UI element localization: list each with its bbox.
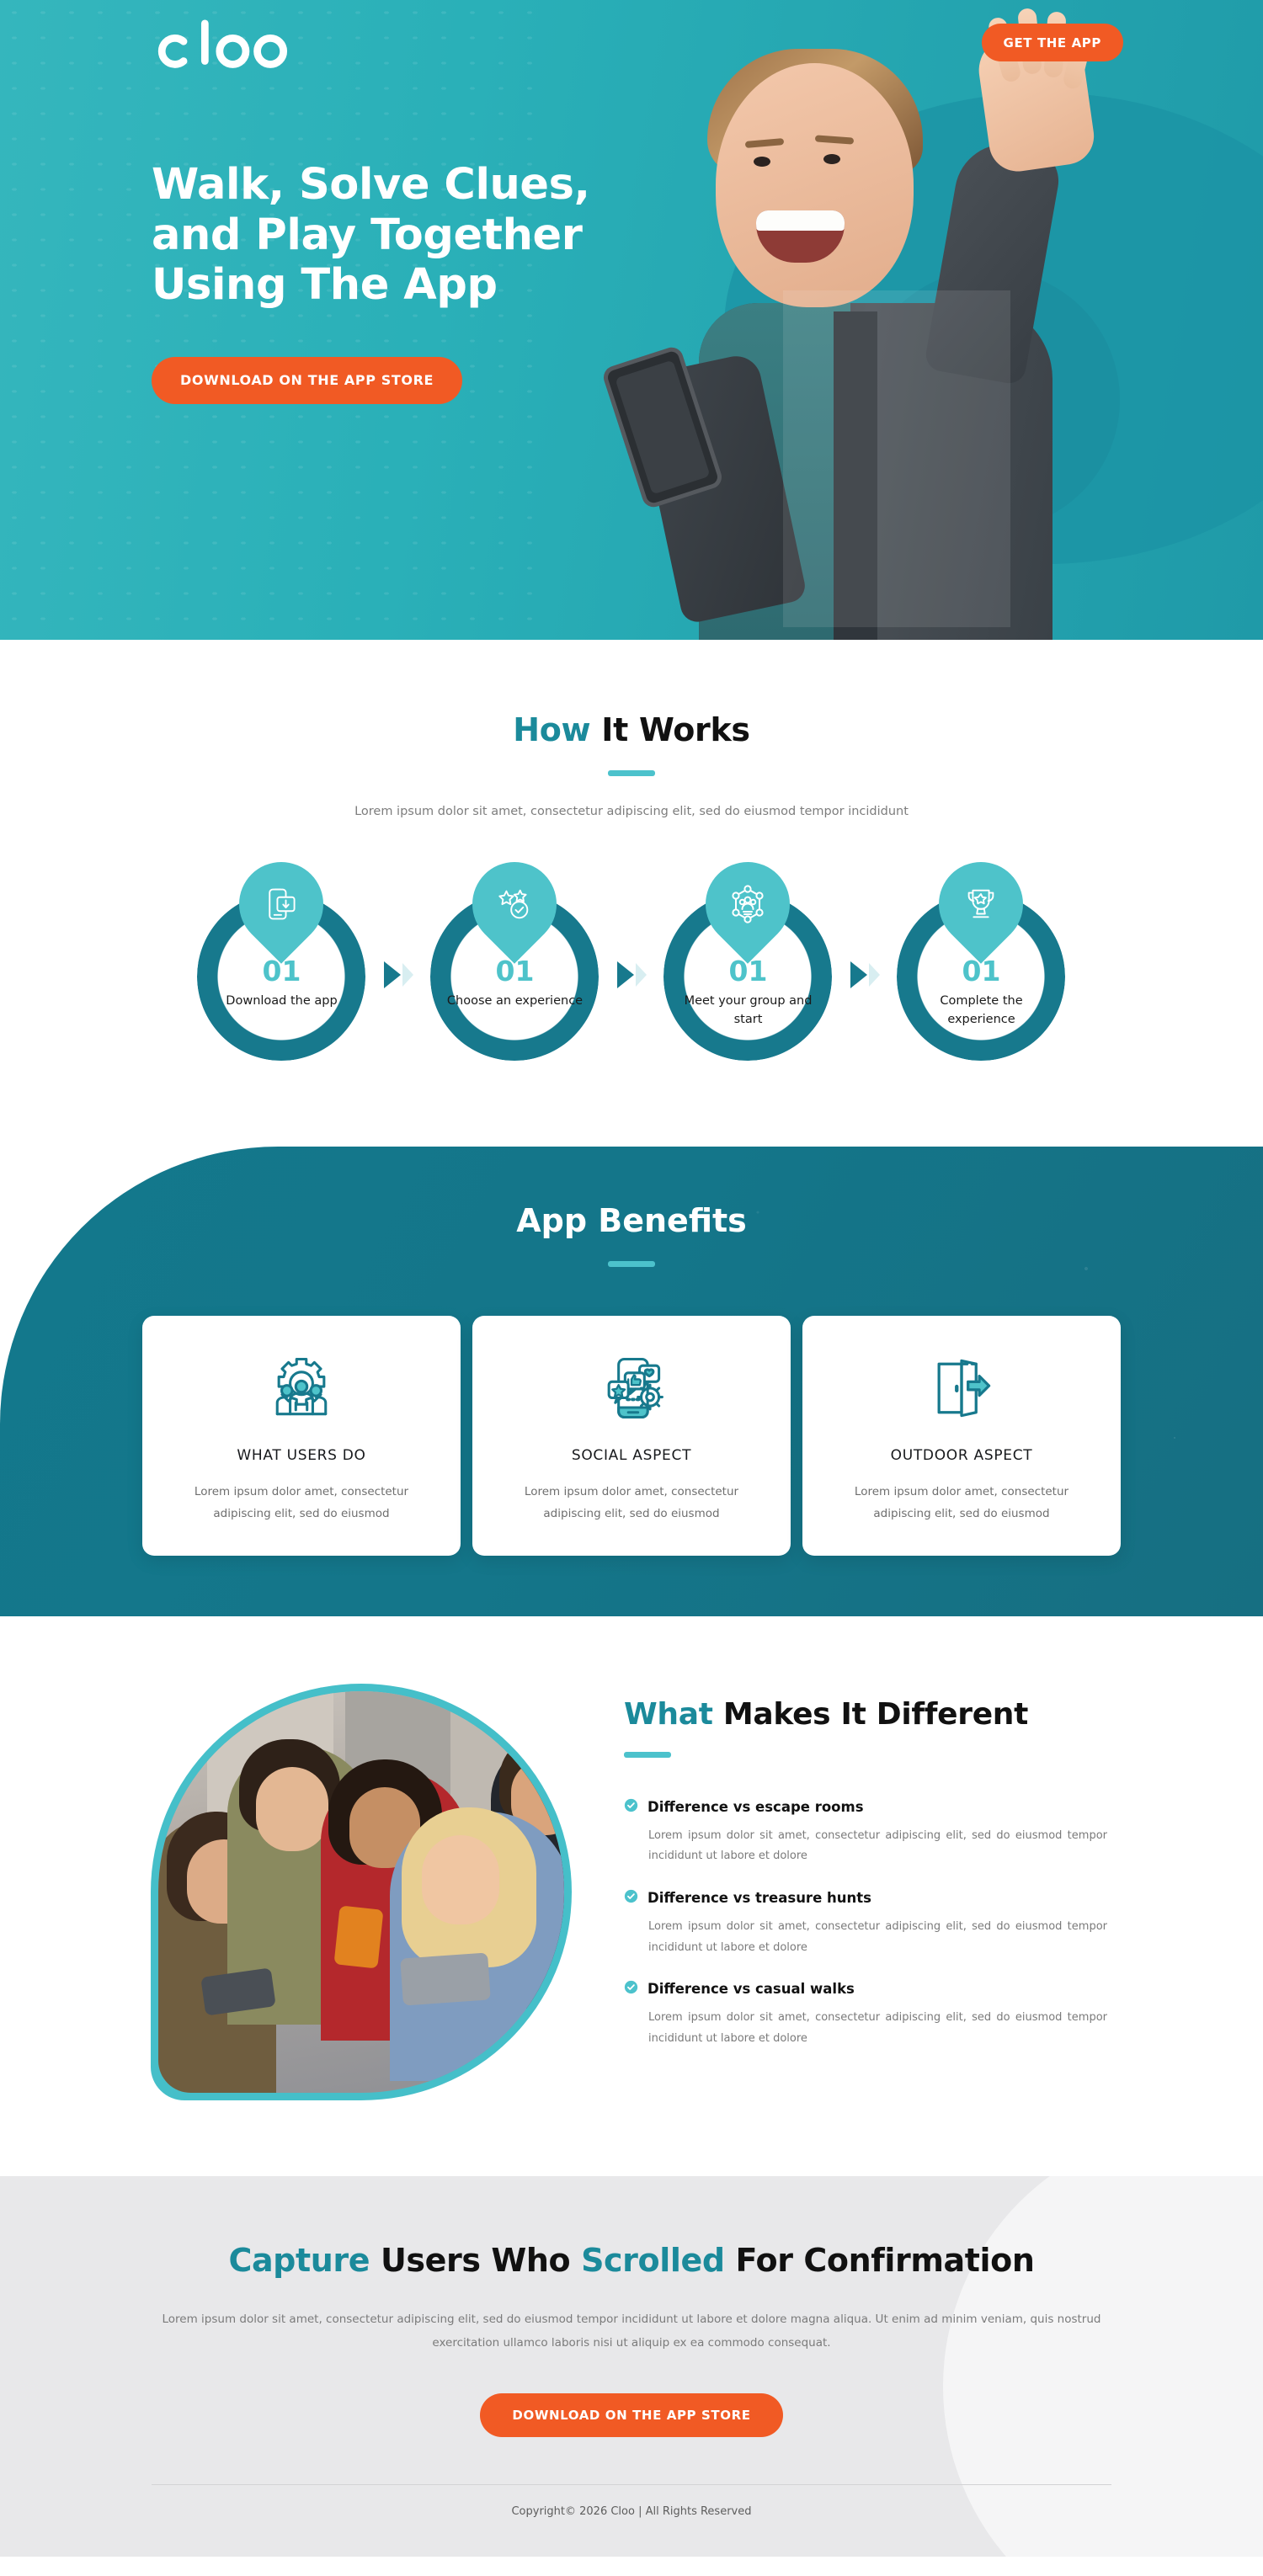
check-circle-icon [624,1980,638,1998]
step-number: 01 [416,955,614,987]
app-benefits-section: App Benefits [0,1147,1263,1616]
difference-list: Difference vs escape rooms Lorem ipsum d… [624,1798,1121,2050]
section-divider [624,1752,671,1758]
check-circle-icon [624,1889,638,1907]
cta-download-button[interactable]: DOWNLOAD ON THE APP STORE [480,2393,782,2437]
different-title-rest: Makes It Different [713,1697,1028,1732]
benefit-cards: WHAT USERS DO Lorem ipsum dolor amet, co… [0,1316,1263,1556]
final-cta-section: Capture Users Who Scrolled For Confirmat… [0,2176,1263,2557]
step-label: Meet your group and start [674,993,822,1030]
step-item-4[interactable]: 01 Complete the experience [882,862,1080,1056]
section-divider [608,770,655,776]
list-item-title: Difference vs escape rooms [647,1799,864,1815]
door-exit-icon [836,1348,1087,1429]
footer-copyright: Copyright© 2026 Cloo | All Rights Reserv… [0,2505,1263,2518]
step-number: 01 [649,955,847,987]
cta-title-part-2: Users Who [381,2242,581,2279]
hero-section: GET THE APP Walk, Solve Clues, and Play … [0,0,1263,640]
step-label: Download the app [208,993,355,1011]
app-benefits-title: App Benefits [0,1202,1263,1239]
hero-title: Walk, Solve Clues, and Play Together Usi… [152,160,640,311]
list-item-title: Difference vs casual walks [647,1981,855,1997]
cta-title-part-1: Capture [228,2242,381,2279]
benefit-card-text: Lorem ipsum dolor amet, consectetur adip… [836,1481,1087,1525]
hero-title-line-2: and Play Together [152,210,582,260]
step-connector-arrow-3 [847,862,882,1056]
how-it-works-section: How It Works Lorem ipsum dolor sit amet,… [0,640,1263,1115]
what-makes-it-different-title: What Makes It Different [624,1697,1121,1732]
list-item: Difference vs treasure hunts Lorem ipsum… [624,1889,1121,1958]
benefit-card-title: OUTDOOR ASPECT [836,1447,1087,1464]
cta-title-part-3: Scrolled [581,2242,735,2279]
benefit-card-title: WHAT USERS DO [176,1447,427,1464]
step-item-2[interactable]: 01 Choose an experience [416,862,614,1056]
step-item-1[interactable]: 01 Download the app [183,862,381,1056]
what-makes-it-different-section: What Makes It Different Difference vs es… [0,1616,1263,2176]
how-it-works-title-rest: It Works [590,711,749,748]
how-it-works-steps: 01 Download the app 01 Choose an experie… [0,862,1263,1056]
check-circle-icon [624,1798,638,1816]
how-it-works-title: How It Works [0,711,1263,748]
benefit-card-social-aspect[interactable]: SOCIAL ASPECT Lorem ipsum dolor amet, co… [472,1316,791,1556]
hero-title-line-1: Walk, Solve Clues, [152,160,590,210]
hero-photo-man-with-phone [581,0,1221,640]
benefit-card-outdoor-aspect[interactable]: OUTDOOR ASPECT Lorem ipsum dolor amet, c… [802,1316,1121,1556]
different-content: What Makes It Different Difference vs es… [624,1684,1121,2072]
step-number: 01 [183,955,381,987]
cta-title-part-4: For Confirmation [736,2242,1035,2279]
phone-social-icon [506,1348,757,1429]
how-it-works-subtitle: Lorem ipsum dolor sit amet, consectetur … [0,805,1263,818]
cta-description: Lorem ipsum dolor sit amet, consectetur … [143,2307,1120,2355]
list-item-title: Difference vs treasure hunts [647,1890,871,1906]
benefit-card-title: SOCIAL ASPECT [506,1447,757,1464]
step-label: Choose an experience [441,993,589,1011]
hero-download-button[interactable]: DOWNLOAD ON THE APP STORE [152,357,462,404]
different-title-highlight: What [624,1697,713,1732]
step-connector-arrow-2 [614,862,649,1056]
list-item: Difference vs escape rooms Lorem ipsum d… [624,1798,1121,1867]
step-label: Complete the experience [908,993,1055,1030]
benefit-card-what-users-do[interactable]: WHAT USERS DO Lorem ipsum dolor amet, co… [142,1316,461,1556]
benefit-card-text: Lorem ipsum dolor amet, consectetur adip… [506,1481,757,1525]
cta-title: Capture Users Who Scrolled For Confirmat… [0,2242,1263,2279]
friends-group-photo [151,1684,572,2100]
get-the-app-button[interactable]: GET THE APP [982,24,1123,61]
section-divider [608,1261,655,1267]
step-number: 01 [882,955,1080,987]
step-connector-arrow-1 [381,862,416,1056]
hero-content: Walk, Solve Clues, and Play Together Usi… [0,0,640,404]
benefit-card-text: Lorem ipsum dolor amet, consectetur adip… [176,1481,427,1525]
list-item-text: Lorem ipsum dolor sit amet, consectetur … [648,2008,1107,2049]
how-it-works-title-highlight: How [513,711,590,748]
step-item-3[interactable]: 01 Meet your group and start [649,862,847,1056]
landing-page: GET THE APP Walk, Solve Clues, and Play … [0,0,1263,2557]
gear-people-icon [176,1348,427,1429]
cta-decorative-curve [943,2176,1263,2557]
footer-divider [152,2484,1111,2485]
list-item-text: Lorem ipsum dolor sit amet, consectetur … [648,1826,1107,1867]
list-item-text: Lorem ipsum dolor sit amet, consectetur … [648,1917,1107,1958]
list-item: Difference vs casual walks Lorem ipsum d… [624,1980,1121,2049]
hero-title-line-3: Using The App [152,260,498,310]
